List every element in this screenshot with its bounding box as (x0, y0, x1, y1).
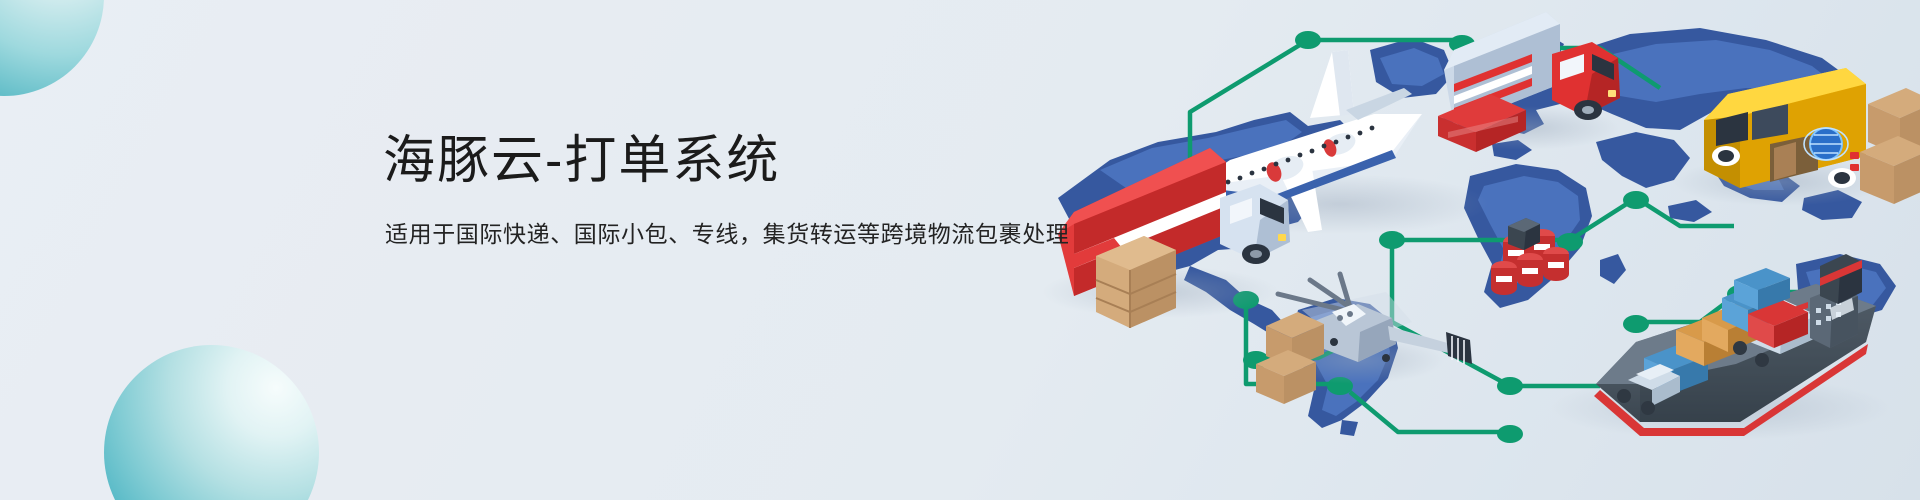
decorative-circle-bottom-left (104, 345, 319, 500)
box-truck-icon (1436, 12, 1620, 152)
decorative-circle-top-left (0, 0, 104, 96)
cardboard-boxes-icon (1860, 88, 1920, 204)
global-logistics-illustration (1040, 0, 1920, 500)
page-title: 海豚云-打单系统 (383, 132, 1069, 190)
container-ship-icon (1550, 254, 1890, 440)
hero-copy: 海豚云-打单系统 适用于国际快递、国际小包、专线，集货转运等跨境物流包裹处理 (383, 132, 1069, 250)
hero-banner: 海豚云-打单系统 适用于国际快递、国际小包、专线，集货转运等跨境物流包裹处理 (0, 0, 1920, 500)
page-subtitle: 适用于国际快递、国际小包、专线，集货转运等跨境物流包裹处理 (385, 220, 1069, 250)
